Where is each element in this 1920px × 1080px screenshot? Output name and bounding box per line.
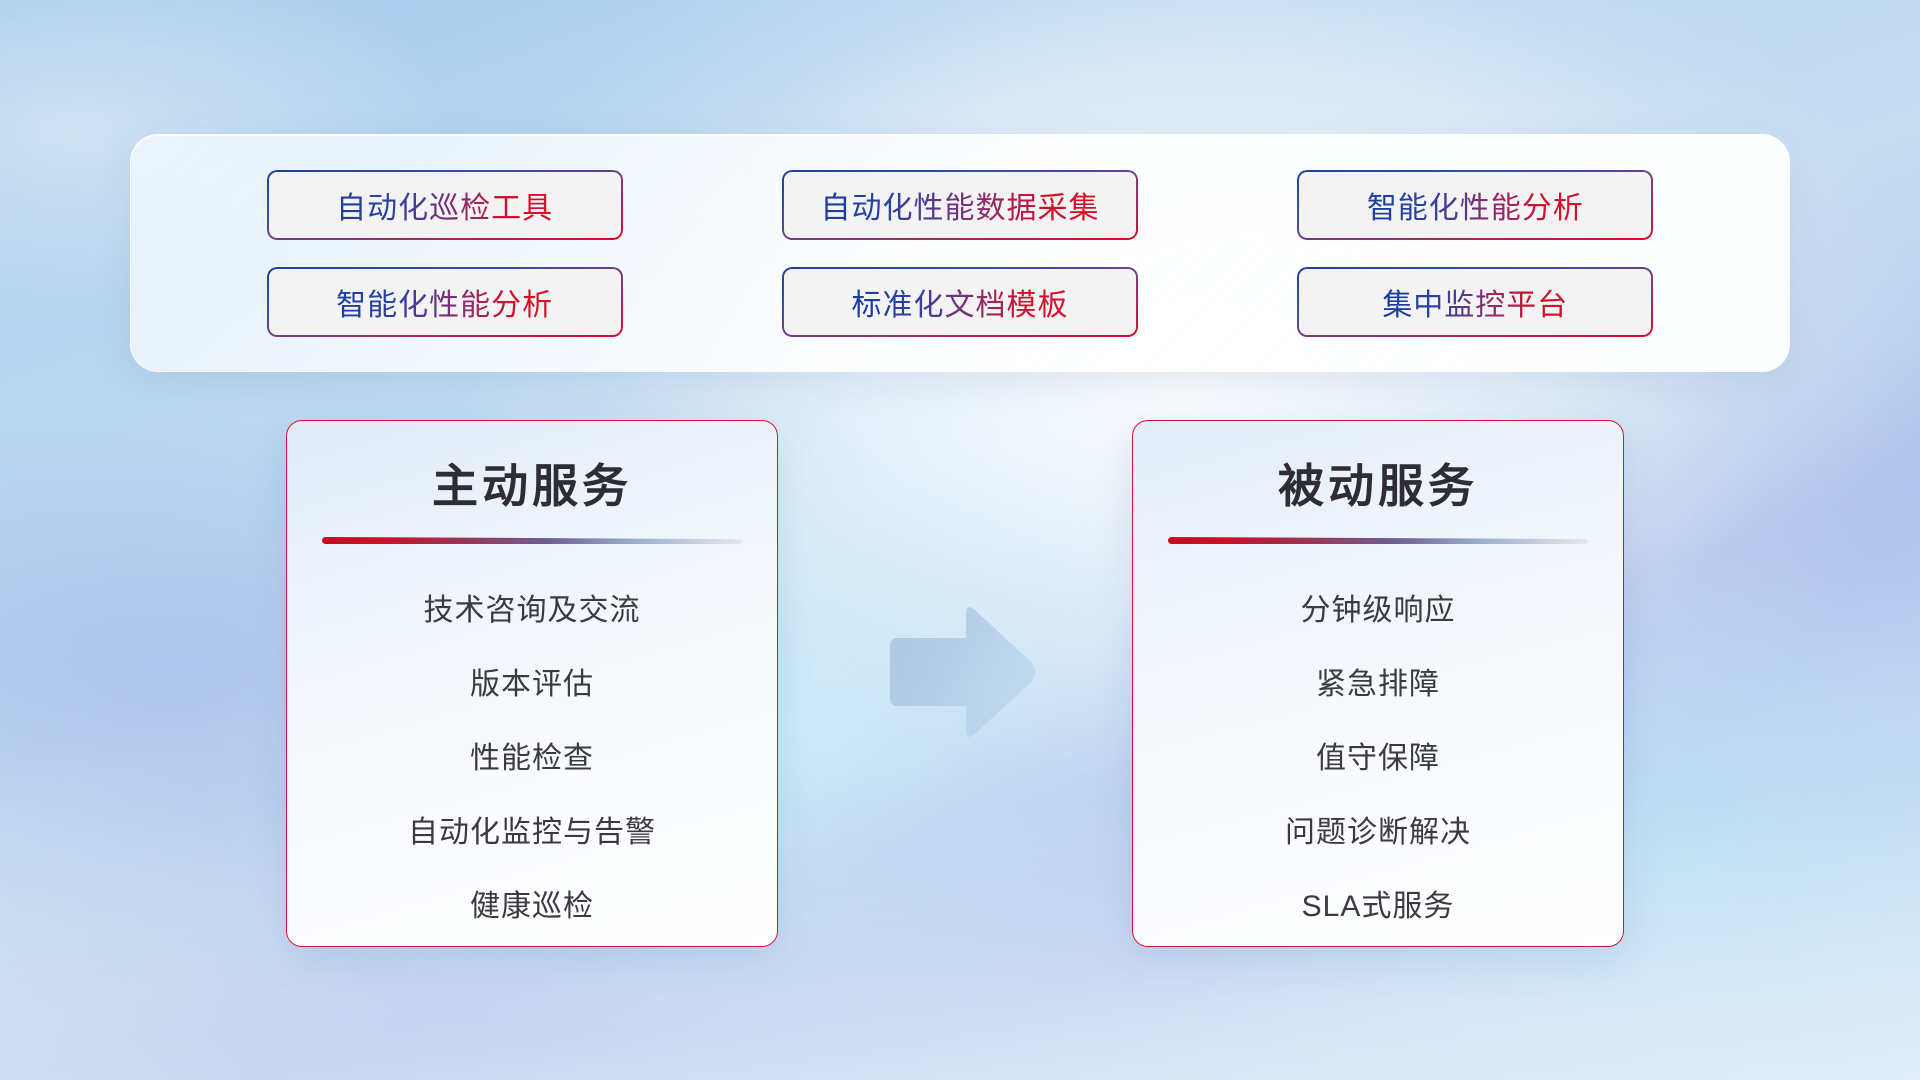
list-item: 健康巡检 <box>470 870 594 944</box>
capability-pill-1[interactable]: 自动化巡检工具 <box>267 170 623 240</box>
capability-pill-2[interactable]: 自动化性能数据采集 <box>782 170 1138 240</box>
list-item: 紧急排障 <box>1316 648 1440 722</box>
list-item: 性能检查 <box>470 722 594 796</box>
list-item: 值守保障 <box>1316 722 1440 796</box>
capability-pill-5[interactable]: 标准化文档模板 <box>782 267 1138 337</box>
list-item: 分钟级响应 <box>1301 574 1456 648</box>
reactive-card-title: 被动服务 <box>1278 463 1478 509</box>
reactive-service-card: 被动服务 分钟级响应 紧急排障 值守保障 问题诊断解决 SLA式服务 <box>1132 420 1624 947</box>
proactive-card-divider <box>322 537 742 544</box>
list-item: SLA式服务 <box>1302 870 1455 944</box>
capability-pill-6[interactable]: 集中监控平台 <box>1297 267 1653 337</box>
list-item: 版本评估 <box>470 648 594 722</box>
capability-pill-4-label: 智能化性能分析 <box>336 280 553 324</box>
slide-canvas: 自动化巡检工具 自动化性能数据采集 智能化性能分析 智能化性能分析 标准化文档模… <box>0 0 1920 1080</box>
list-item: 自动化监控与告警 <box>408 796 656 870</box>
reactive-service-list: 分钟级响应 紧急排障 值守保障 问题诊断解决 SLA式服务 <box>1169 574 1587 944</box>
proactive-service-list: 技术咨询及交流 版本评估 性能检查 自动化监控与告警 健康巡检 <box>323 574 741 944</box>
arrow-right-icon <box>880 600 1040 745</box>
capability-pill-6-label: 集中监控平台 <box>1382 280 1568 324</box>
capability-pill-5-label: 标准化文档模板 <box>851 280 1068 324</box>
reactive-card-divider <box>1168 537 1588 544</box>
capability-pill-2-label: 自动化性能数据采集 <box>820 183 1099 227</box>
capability-pill-4[interactable]: 智能化性能分析 <box>267 267 623 337</box>
capability-pill-3-label: 智能化性能分析 <box>1367 183 1584 227</box>
capability-pill-3[interactable]: 智能化性能分析 <box>1297 170 1653 240</box>
proactive-service-card: 主动服务 技术咨询及交流 版本评估 性能检查 自动化监控与告警 健康巡检 <box>286 420 778 947</box>
capability-toolbar-panel: 自动化巡检工具 自动化性能数据采集 智能化性能分析 智能化性能分析 标准化文档模… <box>130 134 1790 372</box>
list-item: 问题诊断解决 <box>1285 796 1471 870</box>
list-item: 技术咨询及交流 <box>424 574 641 648</box>
proactive-card-title: 主动服务 <box>432 463 632 509</box>
capability-pill-1-label: 自动化巡检工具 <box>336 183 553 227</box>
